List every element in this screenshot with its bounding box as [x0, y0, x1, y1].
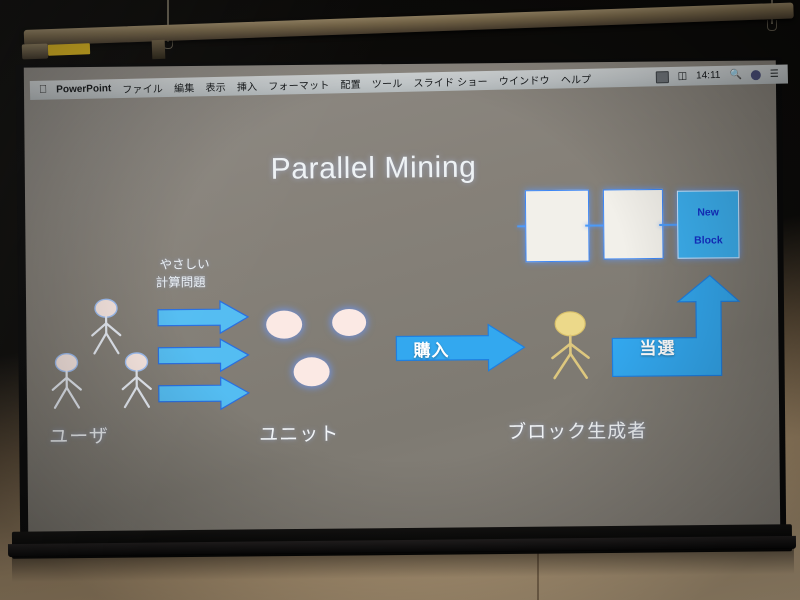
calendar-icon[interactable]: ◫ [678, 71, 688, 81]
clock-time[interactable]: 14:11 [696, 70, 721, 82]
purchase-arrow-label: 購入 [413, 336, 449, 361]
chain-block-1 [525, 190, 590, 263]
menu-item-powerpoint[interactable]: PowerPoint [56, 83, 111, 95]
menu-item-slideshow[interactable]: スライド ショー [413, 73, 488, 90]
new-block-label-line2: Block [678, 234, 738, 248]
apple-icon[interactable]:  [39, 85, 47, 96]
siri-icon[interactable] [751, 70, 761, 80]
unit-circle-3 [293, 357, 329, 386]
menu-item-tools[interactable]: ツール [372, 75, 403, 91]
roller-bar-yellow-label [48, 43, 90, 55]
input-source-icon[interactable] [656, 71, 669, 83]
menu-bar-status-area: ◫ 14:11 🔍 ☰ [656, 68, 783, 83]
menu-bar-spacer [602, 77, 655, 78]
stick-figure-body [114, 351, 159, 411]
elected-arrow-label: 当選 [639, 334, 675, 359]
menu-item-window[interactable]: ウインドウ [499, 72, 550, 88]
ceiling-hook-right [767, 20, 777, 31]
mining-arrow-1 [158, 300, 250, 335]
control-center-icon[interactable]: ☰ [770, 69, 779, 79]
menu-item-help[interactable]: ヘルプ [561, 71, 592, 87]
slide-title: Parallel Mining [271, 151, 477, 187]
mining-arrow-2 [158, 338, 250, 373]
elected-arrow [612, 275, 741, 380]
roller-bar-bracket [152, 40, 166, 59]
roller-bar-end-cap [22, 44, 49, 60]
label-easy-problem-line1: やさしい [160, 256, 210, 272]
powerpoint-slide: Parallel Mining [30, 93, 786, 528]
menu-item-edit[interactable]: 編集 [174, 79, 195, 94]
label-easy-problem-line2: 計算問題 [156, 274, 206, 290]
menu-item-view[interactable]: 表示 [205, 79, 226, 94]
menu-item-format[interactable]: フォーマット [268, 76, 330, 92]
stick-figure-body [44, 351, 89, 411]
label-units: ユニット [259, 419, 339, 447]
chain-block-2 [603, 189, 664, 260]
label-block-producer: ブロック生成者 [507, 416, 647, 444]
mining-arrow-3 [159, 376, 251, 411]
unit-circle-1 [266, 310, 302, 338]
stick-figure-body [544, 310, 597, 382]
search-icon[interactable]: 🔍 [729, 70, 742, 80]
photo-of-presentation-screen:  PowerPoint ファイル 編集 表示 挿入 フォーマット 配置 ツール… [0, 0, 800, 600]
menu-item-file[interactable]: ファイル [122, 80, 163, 96]
menu-item-insert[interactable]: 挿入 [237, 78, 258, 93]
label-users: ユーザ [49, 421, 109, 449]
stick-figure-body [84, 297, 129, 357]
chain-block-new: New Block [677, 190, 740, 259]
unit-circle-2 [332, 309, 366, 336]
new-block-label-line1: New [678, 206, 738, 220]
menu-item-arrange[interactable]: 配置 [340, 76, 361, 91]
